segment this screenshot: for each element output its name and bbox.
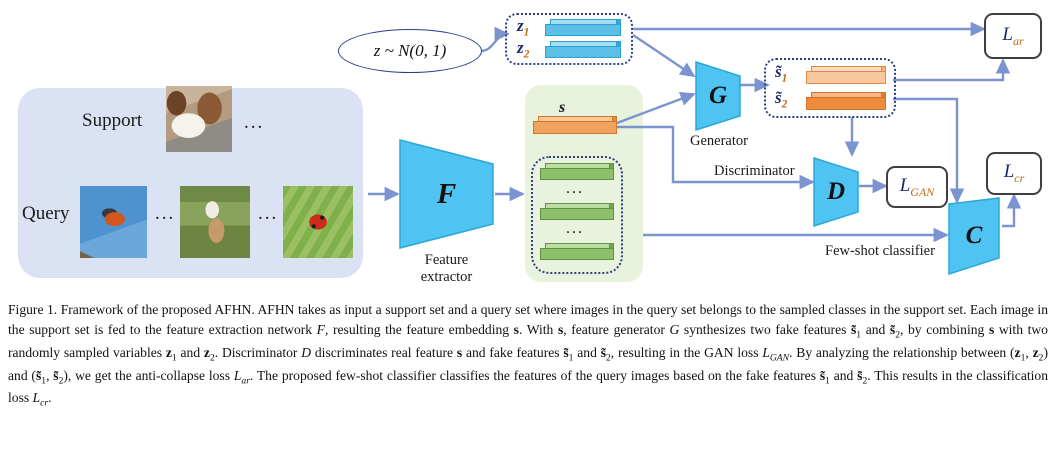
latent-bar-z1 <box>545 19 621 36</box>
discriminator-glyph: D <box>812 156 868 228</box>
fake-feature-bar-s2 <box>806 92 886 110</box>
query-image-bird <box>80 186 147 258</box>
gan-loss-formula: LGAN <box>900 175 935 200</box>
caption-prefix: Figure 1. <box>8 302 57 317</box>
generator-caption: Generator <box>676 133 762 150</box>
figure-caption: Figure 1. Framework of the proposed AFHN… <box>8 300 1048 411</box>
fake-s2-sym: s̃ <box>775 88 782 107</box>
feature-extractor-block: F <box>398 138 495 250</box>
feature-extractor-caption-line2: extractor <box>421 269 473 285</box>
real-feature-bar-s <box>533 116 617 134</box>
classifier-block: C <box>947 196 1001 276</box>
latent-z1-sub: 1 <box>524 26 530 38</box>
anti-collapse-loss-box: Lar <box>984 13 1042 59</box>
loss-cr-sym: L <box>1004 161 1015 182</box>
framework-diagram: z ~ N(0, 1) z1 z2 Support ... Query <box>0 0 1056 292</box>
discriminator-caption: Discriminator <box>714 163 795 180</box>
fake-s1-sub: 1 <box>782 72 788 84</box>
classifier-caption: Few-shot classifier <box>825 243 935 260</box>
support-ellipsis: ... <box>244 112 264 134</box>
query-ellipsis-2: ... <box>258 203 278 225</box>
classifier-glyph: C <box>947 196 1005 276</box>
loss-ar-sym: L <box>1002 24 1013 45</box>
loss-cr-sub: cr <box>1014 171 1024 185</box>
loss-gan-sub: GAN <box>910 184 934 198</box>
discriminator-block: D <box>812 156 860 228</box>
gan-loss-box: LGAN <box>886 166 948 208</box>
loss-ar-sub: ar <box>1013 33 1024 47</box>
fake-s2-sub: 2 <box>782 98 788 110</box>
latent-bar-z2 <box>545 41 621 58</box>
query-image-dog <box>180 186 250 258</box>
query-feature-ellipsis-2: ... <box>566 220 584 238</box>
feature-extractor-caption-line1: Feature <box>425 252 468 268</box>
caption-body: Framework of the proposed AFHN. AFHN tak… <box>8 302 1048 405</box>
query-set-label: Query <box>22 203 69 225</box>
figure-page: z ~ N(0, 1) z1 z2 Support ... Query <box>0 0 1056 468</box>
classification-loss-formula: Lcr <box>1004 161 1025 186</box>
feature-extractor-caption: Feature extractor <box>398 252 495 285</box>
classification-loss-box: Lcr <box>986 152 1042 195</box>
latent-z2-sym: z <box>517 38 524 57</box>
noise-distribution-node: z ~ N(0, 1) <box>338 29 482 73</box>
fake-feature-bar-s1 <box>806 66 886 84</box>
latent-z1-sym: z <box>517 16 524 35</box>
support-set-label: Support <box>82 110 142 132</box>
support-image-dog <box>166 86 232 152</box>
generator-block: G <box>694 60 742 132</box>
query-feature-bar-1 <box>540 163 614 180</box>
feature-extractor-glyph: F <box>398 138 513 250</box>
fake-s1-sym: s̃ <box>775 62 782 81</box>
generator-glyph: G <box>694 60 750 132</box>
fake-feature-label-s2: s̃2 <box>775 88 787 110</box>
query-feature-bar-3 <box>540 243 614 260</box>
anti-collapse-loss-formula: Lar <box>1002 24 1023 49</box>
query-image-ladybug <box>283 186 353 258</box>
loss-gan-sym: L <box>900 175 911 196</box>
noise-distribution-label: z ~ N(0, 1) <box>374 41 446 61</box>
query-feature-ellipsis-1: ... <box>566 180 584 198</box>
latent-label-z2: z2 <box>517 38 529 60</box>
latent-z2-sub: 2 <box>524 48 530 60</box>
real-feature-label: s <box>559 99 565 117</box>
query-feature-bar-2 <box>540 203 614 220</box>
fake-feature-label-s1: s̃1 <box>775 62 787 84</box>
latent-label-z1: z1 <box>517 16 529 38</box>
query-ellipsis-1: ... <box>155 203 175 225</box>
